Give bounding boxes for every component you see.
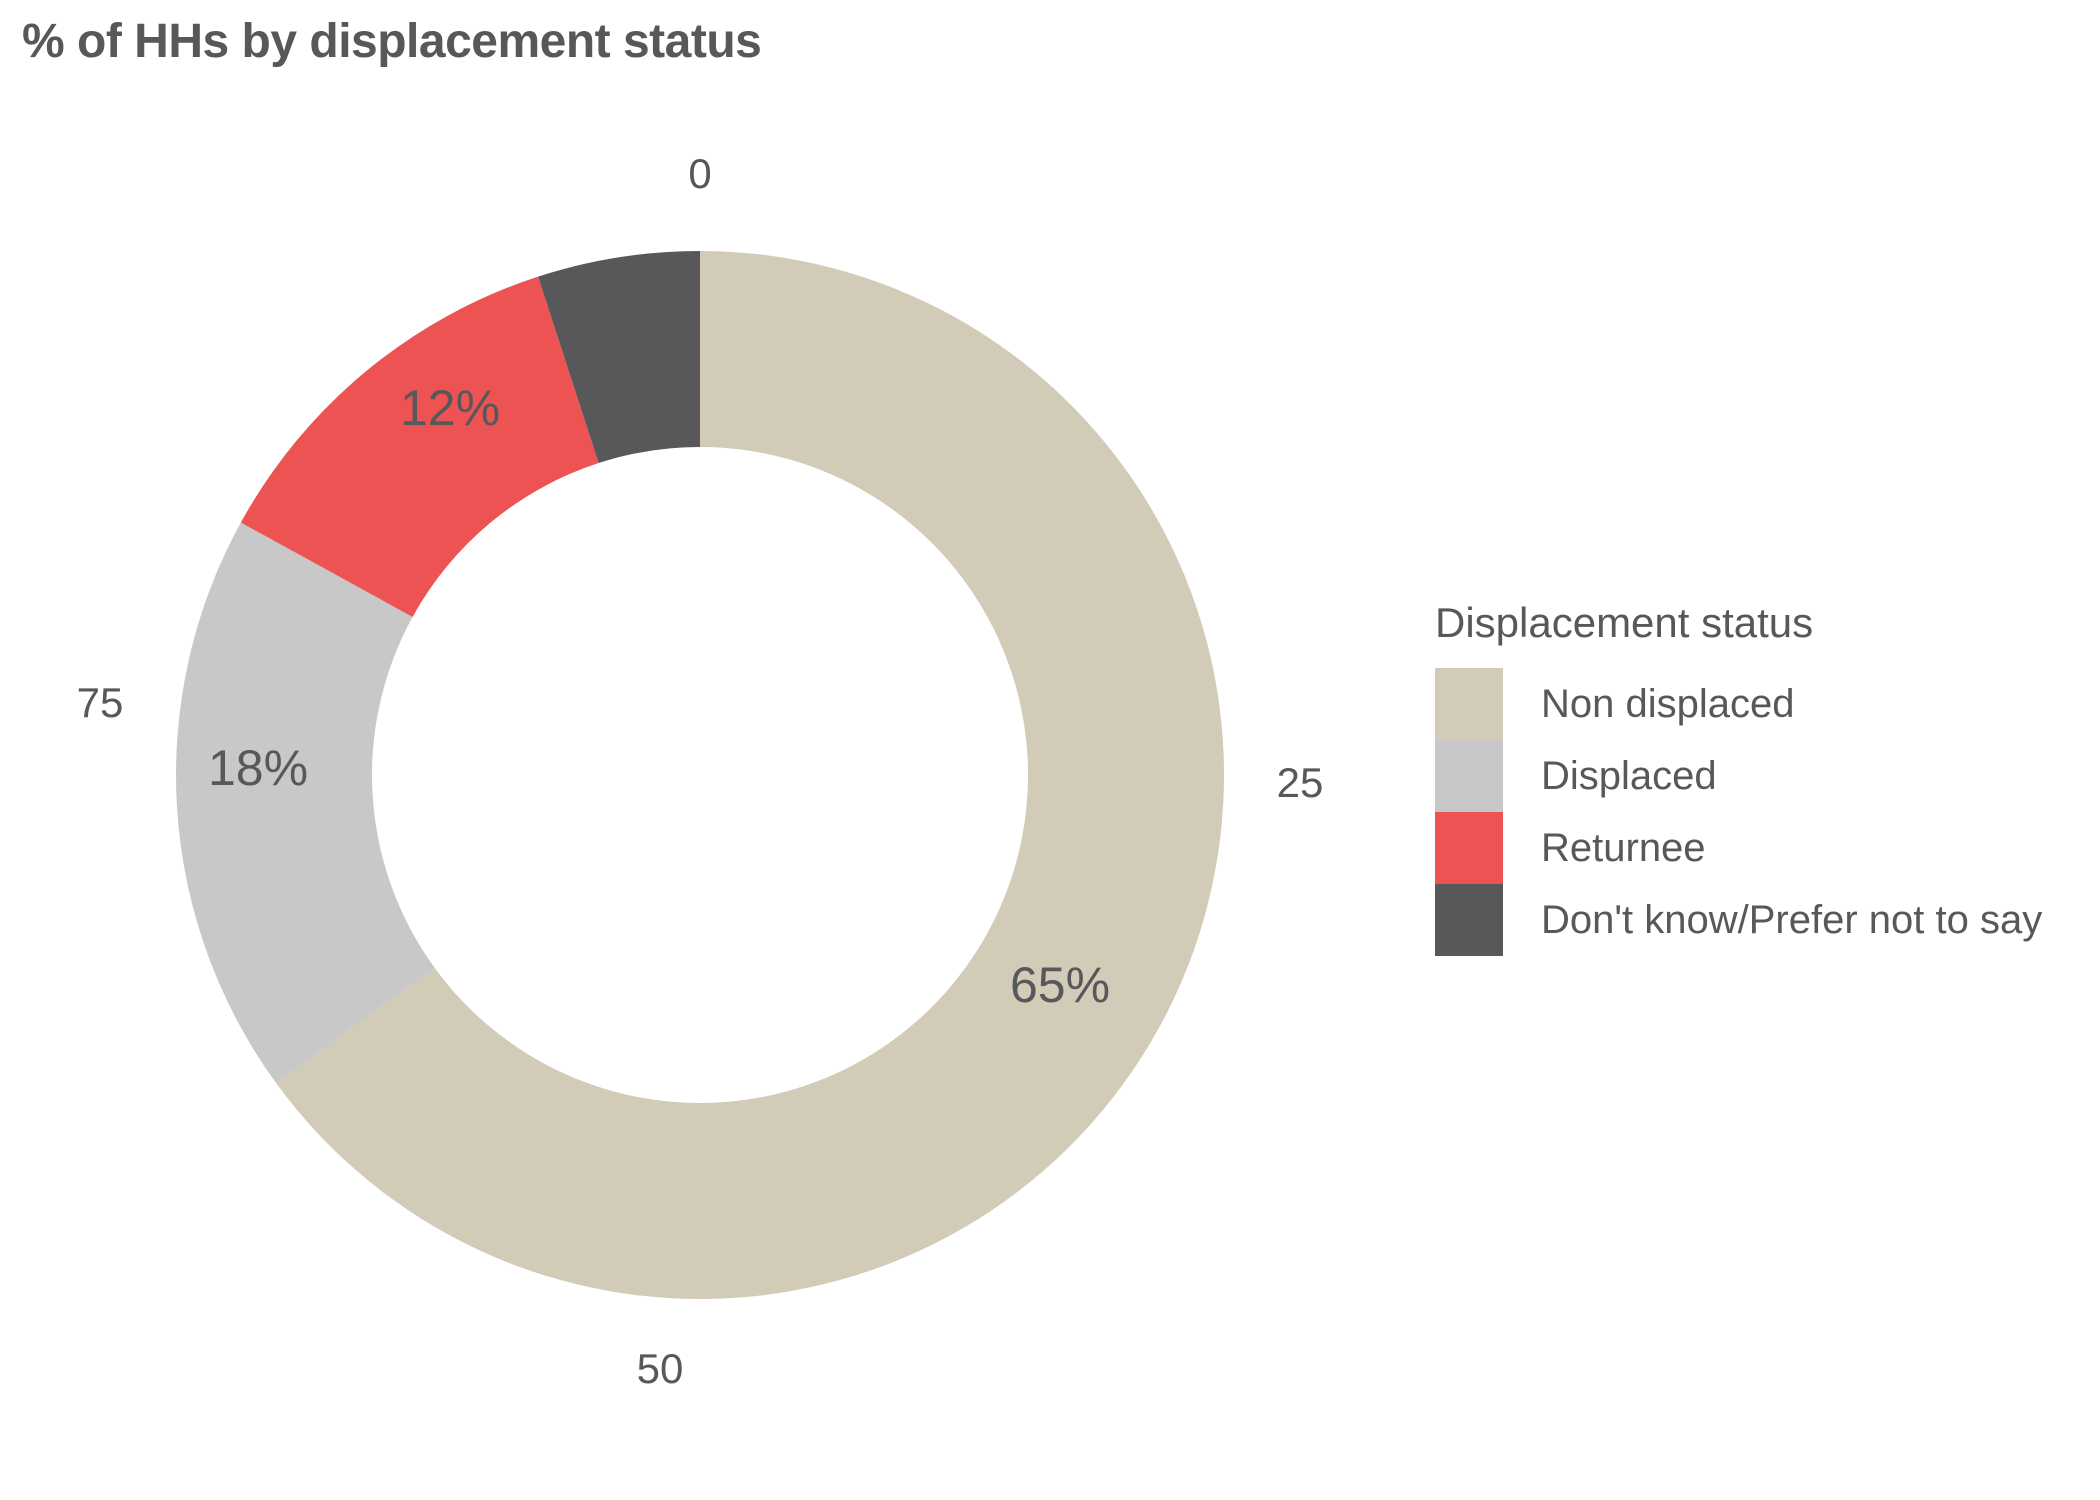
legend-item[interactable]: Displaced — [1435, 740, 2075, 812]
axis-tick-50: 50 — [600, 1348, 720, 1390]
donut-chart-plot-area: 0 25 50 75 65%18%12% — [0, 0, 1400, 1500]
legend-color-swatch-icon — [1435, 812, 1503, 884]
legend-item-label: Don't know/Prefer not to say — [1541, 900, 2042, 940]
slice-value-label: 65% — [1010, 960, 1110, 1010]
legend-title: Displacement status — [1435, 600, 2075, 646]
donut-slice-group — [176, 251, 1224, 1299]
legend-items: Non displacedDisplacedReturneeDon't know… — [1435, 668, 2075, 956]
slice-value-label: 18% — [208, 743, 308, 793]
legend-item-label: Displaced — [1541, 756, 1717, 796]
axis-tick-0: 0 — [640, 153, 760, 195]
axis-tick-25: 25 — [1240, 762, 1360, 804]
legend-item[interactable]: Returnee — [1435, 812, 2075, 884]
legend-color-swatch-icon — [1435, 668, 1503, 740]
legend-item-label: Non displaced — [1541, 684, 1795, 724]
slice-value-label: 12% — [400, 383, 500, 433]
legend-item[interactable]: Don't know/Prefer not to say — [1435, 884, 2075, 956]
legend: Displacement status Non displacedDisplac… — [1435, 600, 2075, 956]
legend-item-label: Returnee — [1541, 828, 1706, 868]
legend-color-swatch-icon — [1435, 884, 1503, 956]
legend-color-swatch-icon — [1435, 740, 1503, 812]
axis-tick-75: 75 — [40, 682, 160, 724]
legend-item[interactable]: Non displaced — [1435, 668, 2075, 740]
